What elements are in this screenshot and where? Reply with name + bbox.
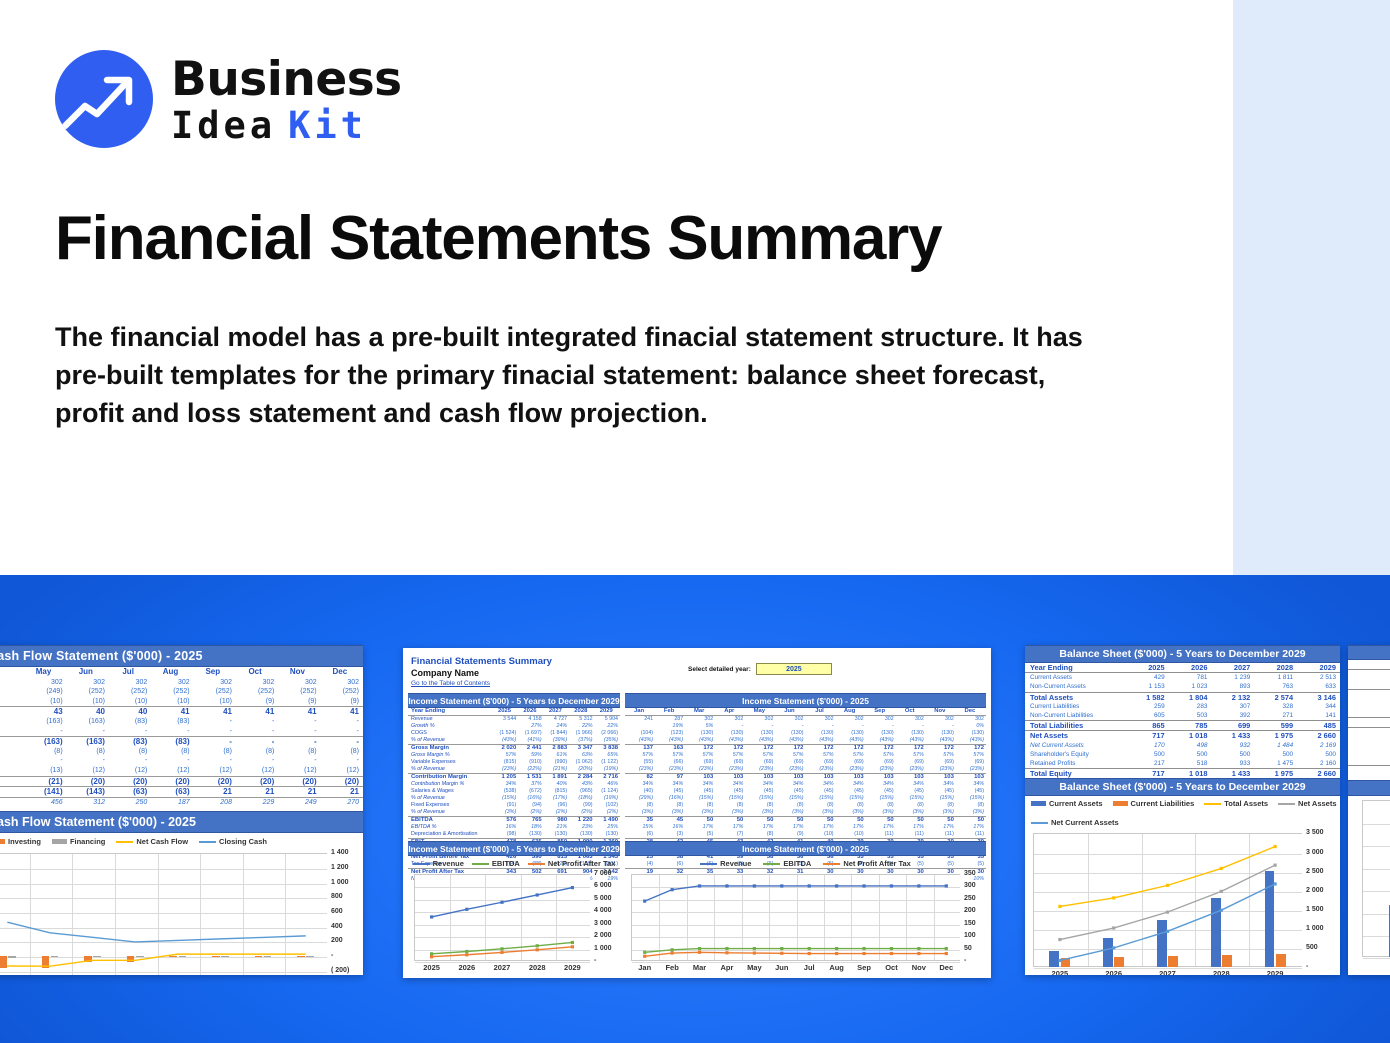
data-cell: (91) bbox=[493, 802, 518, 809]
chart-series-lines bbox=[625, 870, 986, 975]
data-cell: (130) bbox=[896, 730, 926, 737]
row-label bbox=[0, 756, 24, 766]
data-cell: (45) bbox=[715, 788, 745, 795]
cash-flow-sheet-screenshot[interactable]: Cash Flow Statement ($'000) - 2025 MayJu… bbox=[0, 645, 363, 975]
table-row: -------- bbox=[0, 727, 363, 737]
legend-item: Financing bbox=[52, 837, 105, 846]
data-cell: 2027 bbox=[1211, 663, 1254, 673]
legend-label: Current Assets bbox=[1049, 799, 1103, 808]
data-cell: 103 bbox=[836, 774, 866, 782]
row-label: Net Current Assets bbox=[1025, 741, 1126, 750]
legend-item: Current Assets bbox=[1031, 799, 1103, 808]
data-cell: 2029 bbox=[1297, 663, 1340, 673]
data-cell: 50 bbox=[836, 817, 866, 825]
data-cell: (2%) bbox=[518, 809, 543, 817]
row-label: Fixed Expenses bbox=[408, 802, 493, 809]
data-cell: 57% bbox=[836, 752, 866, 759]
data-cell: (8) bbox=[715, 802, 745, 809]
data-cell: (22%) bbox=[518, 766, 543, 774]
data-cell: (83) bbox=[109, 737, 151, 747]
data-cell: (16%) bbox=[518, 795, 543, 802]
data-cell: 2025 bbox=[1126, 663, 1169, 673]
chart-series-lines bbox=[0, 849, 363, 975]
data-cell: 170 bbox=[1126, 741, 1169, 750]
data-cell: 17% bbox=[926, 824, 956, 831]
data-cell: (15%) bbox=[896, 795, 926, 802]
data-cell: 97 bbox=[655, 774, 685, 782]
chart-series-lines bbox=[1025, 829, 1340, 975]
data-cell: 576 bbox=[493, 817, 518, 825]
data-cell: 50 bbox=[685, 817, 715, 825]
data-cell: (12) bbox=[109, 766, 151, 776]
row-label: Gross Margin bbox=[408, 745, 493, 753]
data-cell: 17% bbox=[745, 824, 775, 831]
data-cell: (43%) bbox=[775, 737, 805, 745]
legend-swatch bbox=[700, 863, 717, 865]
row-label bbox=[1348, 689, 1390, 699]
table-row: 4340404141414141 bbox=[0, 707, 363, 717]
data-cell: 24% bbox=[544, 723, 569, 730]
table-row: Growth %27%24%22%22% bbox=[408, 723, 620, 730]
data-cell: 34% bbox=[625, 781, 655, 788]
data-cell: - bbox=[194, 717, 236, 727]
row-label bbox=[1348, 670, 1390, 680]
data-cell: 103 bbox=[956, 774, 986, 782]
month-header: Sep bbox=[194, 667, 236, 678]
data-cell: (8) bbox=[775, 802, 805, 809]
data-cell: 1 023 bbox=[1169, 682, 1212, 692]
data-cell: (252) bbox=[278, 687, 320, 697]
data-cell: - bbox=[236, 727, 278, 737]
data-cell: 50 bbox=[926, 817, 956, 825]
data-cell: 17% bbox=[715, 824, 745, 831]
data-cell: (990) bbox=[544, 759, 569, 766]
data-cell: (1 124) bbox=[595, 788, 620, 795]
table-row: (13)(12)(12)(12)(12)(12)(12)(12) bbox=[0, 766, 363, 776]
balance-sheet-table: Year Ending20252026202720282029Current A… bbox=[1025, 663, 1340, 778]
data-cell: 34% bbox=[655, 781, 685, 788]
data-cell: (17%) bbox=[544, 795, 569, 802]
page-title: Financial Statements Summary bbox=[55, 203, 941, 274]
data-cell: (11) bbox=[956, 831, 986, 839]
data-cell: (3%) bbox=[956, 809, 986, 817]
row-label bbox=[0, 697, 24, 707]
data-cell: 5% bbox=[685, 723, 715, 730]
data-cell: (15%) bbox=[775, 795, 805, 802]
row-label bbox=[1348, 679, 1390, 689]
row-label bbox=[0, 766, 24, 776]
data-cell: (1 697) bbox=[518, 730, 543, 737]
data-cell: (23%) bbox=[866, 766, 896, 774]
data-cell: 500 bbox=[1211, 750, 1254, 759]
data-cell: 3 347 bbox=[569, 745, 594, 753]
data-cell: 302 bbox=[194, 678, 236, 688]
data-cell: (20) bbox=[278, 776, 320, 787]
data-cell: 302 bbox=[956, 716, 986, 724]
data-cell: 65% bbox=[595, 752, 620, 759]
data-cell: 35 bbox=[625, 817, 655, 825]
table-row: (8)(8)(8)(8)(8)(8)(8)(8) bbox=[0, 747, 363, 757]
data-cell: (102) bbox=[595, 802, 620, 809]
table-row: Total Assets1 5821 8042 1322 5743 146 bbox=[1025, 692, 1340, 702]
row-label bbox=[1348, 718, 1390, 728]
table-row: (23%)(23%)(23%)(23%)(23%)(23%)(23%)(23%)… bbox=[625, 766, 986, 774]
balance-sheet-chart-legend: Current AssetsCurrent LiabilitiesTotal A… bbox=[1025, 796, 1340, 829]
growth-arrow-circle-icon bbox=[55, 50, 153, 148]
data-cell: (252) bbox=[67, 687, 109, 697]
data-cell: 57% bbox=[956, 752, 986, 759]
data-cell: (45) bbox=[685, 788, 715, 795]
data-cell: (8) bbox=[321, 747, 363, 757]
data-cell: 103 bbox=[926, 774, 956, 782]
data-cell: 27% bbox=[518, 723, 543, 730]
data-cell: 1 433 bbox=[1211, 769, 1254, 779]
balance-monthly-chart-ribbon bbox=[1348, 780, 1390, 796]
data-cell: (8) bbox=[805, 802, 835, 809]
data-cell: 2 169 bbox=[1297, 741, 1340, 750]
legend-label: Closing Cash bbox=[219, 837, 267, 846]
table-row: 456312250187208229249270 bbox=[0, 797, 363, 807]
table-row: 241287302302302302302302302302302302 bbox=[625, 716, 986, 724]
data-cell: - bbox=[194, 737, 236, 747]
legend-swatch bbox=[823, 863, 840, 865]
data-cell: 344 bbox=[1297, 702, 1340, 711]
data-cell: (130) bbox=[805, 730, 835, 737]
table-row: 1 174 bbox=[1348, 670, 1390, 680]
legend-item: Net Cash Flow bbox=[116, 837, 188, 846]
row-label: Revenue bbox=[408, 716, 493, 724]
data-cell: 2 660 bbox=[1297, 731, 1340, 741]
data-cell: 172 bbox=[896, 745, 926, 753]
data-cell: 763 bbox=[1254, 682, 1297, 692]
data-cell: 312 bbox=[67, 797, 109, 807]
data-cell: (8) bbox=[896, 802, 926, 809]
data-cell: - bbox=[24, 756, 66, 766]
balance-sheet-monthly-screenshot[interactable]: Jan1 1741241 297936927865121 08150012512… bbox=[1348, 645, 1390, 975]
data-cell: (99) bbox=[569, 802, 594, 809]
legend-item: Net Assets bbox=[1278, 799, 1337, 808]
year-header: 2028 bbox=[569, 708, 594, 716]
data-cell: 37% bbox=[518, 781, 543, 788]
data-cell: 40% bbox=[544, 781, 569, 788]
table-row: (3%)(3%)(3%)(3%)(3%)(3%)(3%)(3%)(3%)(3%)… bbox=[625, 809, 986, 817]
row-label: COGS bbox=[408, 730, 493, 737]
data-cell: 15% bbox=[625, 824, 655, 831]
row-label bbox=[0, 727, 24, 737]
income-statement-sheet-screenshot[interactable]: Financial Statements Summary Company Nam… bbox=[403, 648, 991, 978]
data-cell: 187 bbox=[151, 797, 193, 807]
data-cell: 1 582 bbox=[1126, 692, 1169, 702]
data-cell: (23%) bbox=[956, 766, 986, 774]
data-cell: 34% bbox=[715, 781, 745, 788]
legend-swatch bbox=[0, 839, 5, 844]
chart-series-lines bbox=[408, 870, 620, 975]
data-cell: (8) bbox=[956, 802, 986, 809]
legend-label: Net Profit After Tax bbox=[548, 859, 616, 868]
data-cell: (252) bbox=[321, 687, 363, 697]
income-annual-table-title: Income Statement ($'000) - 5 Years to De… bbox=[408, 693, 620, 708]
data-cell: (43%) bbox=[685, 737, 715, 745]
data-cell: 41 bbox=[194, 707, 236, 717]
data-cell: 500 bbox=[1126, 750, 1169, 759]
data-cell: (19%) bbox=[595, 766, 620, 774]
data-cell: (8) bbox=[109, 747, 151, 757]
row-label: Gross Margin % bbox=[408, 752, 493, 759]
data-cell: (15%) bbox=[836, 795, 866, 802]
select-year-label: Select detailed year: bbox=[688, 666, 751, 673]
data-cell: 500 bbox=[1169, 750, 1212, 759]
data-cell: (15%) bbox=[805, 795, 835, 802]
data-cell: (43%) bbox=[836, 737, 866, 745]
brand-logo: Business Idea Kit bbox=[55, 50, 402, 148]
table-row: Net Current Assets1704989321 4842 169 bbox=[1025, 741, 1340, 750]
data-cell: 172 bbox=[836, 745, 866, 753]
data-cell: (8) bbox=[194, 747, 236, 757]
legend-label: Financing bbox=[70, 837, 105, 846]
income-annual-chart: 7 0006 0005 0004 0003 0002 0001 000-2025… bbox=[408, 870, 620, 975]
data-cell: (10) bbox=[805, 831, 835, 839]
data-cell: 208 bbox=[194, 797, 236, 807]
data-cell: 2026 bbox=[1169, 663, 1212, 673]
data-cell: (43%) bbox=[745, 737, 775, 745]
data-cell: - bbox=[109, 727, 151, 737]
row-label: Growth % bbox=[408, 723, 493, 730]
data-cell: 43 bbox=[24, 707, 66, 717]
table-row: % of Revenue(43%)(41%)(39%)(37%)(35%) bbox=[408, 737, 620, 745]
row-label: % of Revenue bbox=[408, 795, 493, 802]
year-header: 2029 bbox=[595, 708, 620, 716]
data-cell: (965) bbox=[569, 788, 594, 795]
data-cell: 2 513 bbox=[1297, 673, 1340, 683]
data-cell: 302 bbox=[896, 716, 926, 724]
table-row: Salaries & Wages(538)(672)(815)(965)(1 1… bbox=[408, 788, 620, 795]
data-cell: 1 975 bbox=[1254, 731, 1297, 741]
data-cell: - bbox=[67, 727, 109, 737]
data-cell: 500 bbox=[1254, 750, 1297, 759]
select-year-input[interactable]: 2025 bbox=[756, 663, 832, 675]
data-cell: (55) bbox=[625, 759, 655, 766]
table-row: 512 bbox=[1348, 766, 1390, 776]
data-cell: 1 475 bbox=[1254, 759, 1297, 769]
month-header: Nov bbox=[926, 708, 956, 716]
data-cell: (1 966) bbox=[569, 730, 594, 737]
income-monthly-chart-title: Income Statement ($'000) - 2025 bbox=[625, 841, 986, 856]
table-row: Contribution Margin %34%37%40%43%46% bbox=[408, 781, 620, 788]
row-label: % of Revenue bbox=[408, 809, 493, 817]
data-cell: 34% bbox=[493, 781, 518, 788]
data-cell: (8) bbox=[866, 802, 896, 809]
table-row: Depreciation & Amortisation(98)(130)(130… bbox=[408, 831, 620, 839]
data-cell: 57% bbox=[775, 752, 805, 759]
table-row: -------- bbox=[0, 756, 363, 766]
data-cell: 21 bbox=[321, 787, 363, 798]
row-label bbox=[1348, 756, 1390, 766]
data-cell: 57% bbox=[685, 752, 715, 759]
data-cell: (43%) bbox=[655, 737, 685, 745]
data-cell: (69) bbox=[956, 759, 986, 766]
brand-word-idea: Idea bbox=[171, 107, 276, 144]
page-description: The financial model has a pre-built inte… bbox=[55, 318, 1110, 432]
data-cell: 103 bbox=[685, 774, 715, 782]
data-cell: 302 bbox=[926, 716, 956, 724]
balance-sheet-chart-title: Balance Sheet ($'000) - 5 Years to Decem… bbox=[1025, 778, 1340, 796]
income-monthly-table-title: Income Statement ($'000) - 2025 bbox=[625, 693, 986, 708]
row-label bbox=[0, 667, 24, 678]
legend-item: Investing bbox=[0, 837, 41, 846]
table-row: (29%)(16%)(15%)(15%)(15%)(15%)(15%)(15%)… bbox=[625, 795, 986, 802]
row-label bbox=[1348, 660, 1390, 670]
data-cell: (43%) bbox=[625, 737, 655, 745]
data-cell: 781 bbox=[1169, 673, 1212, 683]
brand-word-business: Business bbox=[171, 56, 402, 103]
data-cell: (96) bbox=[544, 802, 569, 809]
data-cell: 34% bbox=[685, 781, 715, 788]
income-monthly-chart: 35030025020015010050-JanFebMarAprMayJunJ… bbox=[625, 870, 986, 975]
data-cell: 518 bbox=[1169, 759, 1212, 769]
data-cell: 302 bbox=[278, 678, 320, 688]
table-row: (249)(252)(252)(252)(252)(252)(252)(252) bbox=[0, 687, 363, 697]
data-cell: 172 bbox=[956, 745, 986, 753]
row-label bbox=[0, 687, 24, 697]
row-label bbox=[1348, 728, 1390, 738]
legend-item: Net Current Assets bbox=[1031, 818, 1119, 827]
data-cell: 302 bbox=[836, 716, 866, 724]
table-row: Gross Margin2 0202 4412 8833 3473 838 bbox=[408, 745, 620, 753]
row-label bbox=[0, 787, 24, 798]
data-cell: 893 bbox=[1211, 682, 1254, 692]
data-cell: (15%) bbox=[745, 795, 775, 802]
data-cell: (7) bbox=[715, 831, 745, 839]
data-cell: 103 bbox=[745, 774, 775, 782]
data-cell: (23%) bbox=[685, 766, 715, 774]
decorative-tint-panel bbox=[1233, 0, 1390, 575]
data-cell: - bbox=[67, 756, 109, 766]
data-cell: - bbox=[896, 723, 926, 730]
data-cell: 25% bbox=[595, 824, 620, 831]
data-cell: - bbox=[321, 756, 363, 766]
brand-wordmark: Business Idea Kit bbox=[171, 54, 402, 144]
data-cell: (45) bbox=[805, 788, 835, 795]
data-cell: 2 160 bbox=[1297, 759, 1340, 769]
data-cell: 103 bbox=[896, 774, 926, 782]
data-cell: 17% bbox=[775, 824, 805, 831]
data-cell: (23%) bbox=[836, 766, 866, 774]
data-cell: - bbox=[278, 727, 320, 737]
data-cell: (43%) bbox=[805, 737, 835, 745]
table-row: 19%5%--------0% bbox=[625, 723, 986, 730]
data-cell: 2 716 bbox=[595, 774, 620, 782]
data-cell: (23%) bbox=[805, 766, 835, 774]
month-header: Dec bbox=[321, 667, 363, 678]
income-monthly-chart-legend: RevenueEBITDANet Profit After Tax bbox=[625, 856, 986, 870]
data-cell: - bbox=[805, 723, 835, 730]
data-cell: 57% bbox=[655, 752, 685, 759]
data-cell: 456 bbox=[24, 797, 66, 807]
data-cell: 63% bbox=[569, 752, 594, 759]
table-row: 692 bbox=[1348, 708, 1390, 718]
legend-item: Net Profit After Tax bbox=[528, 859, 616, 868]
month-header: Aug bbox=[836, 708, 866, 716]
data-cell: (21%) bbox=[544, 766, 569, 774]
data-cell: 302 bbox=[775, 716, 805, 724]
table-row: Variable Expenses(815)(910)(990)(1 062)(… bbox=[408, 759, 620, 766]
data-cell: 21% bbox=[544, 824, 569, 831]
data-cell: (43%) bbox=[896, 737, 926, 745]
data-cell: (130) bbox=[715, 730, 745, 737]
data-cell: 172 bbox=[775, 745, 805, 753]
data-cell: (37%) bbox=[569, 737, 594, 745]
data-cell: - bbox=[775, 723, 805, 730]
data-cell: (10) bbox=[24, 697, 66, 707]
row-label: Year Ending bbox=[408, 708, 493, 716]
data-cell: 17% bbox=[805, 824, 835, 831]
data-cell: 57% bbox=[866, 752, 896, 759]
month-header: Apr bbox=[715, 708, 745, 716]
data-cell: (16%) bbox=[655, 795, 685, 802]
table-row: Shareholder's Equity500500500500500 bbox=[1025, 750, 1340, 759]
data-cell: 40 bbox=[67, 707, 109, 717]
data-cell: (43%) bbox=[956, 737, 986, 745]
data-cell: 45 bbox=[655, 817, 685, 825]
data-cell: 392 bbox=[1211, 711, 1254, 721]
table-row: 500 bbox=[1348, 747, 1390, 756]
data-cell: 2 574 bbox=[1254, 692, 1297, 702]
data-cell: 172 bbox=[866, 745, 896, 753]
table-row: 1 297 bbox=[1348, 689, 1390, 699]
data-cell: (3%) bbox=[836, 809, 866, 817]
data-cell: (130) bbox=[518, 831, 543, 839]
legend-label: Revenue bbox=[433, 859, 464, 868]
data-cell: (143) bbox=[67, 787, 109, 798]
data-cell: (15%) bbox=[493, 795, 518, 802]
data-cell: 172 bbox=[745, 745, 775, 753]
data-cell: 699 bbox=[1211, 721, 1254, 731]
data-cell: 59% bbox=[518, 752, 543, 759]
row-label bbox=[0, 737, 24, 747]
data-cell: 717 bbox=[1126, 731, 1169, 741]
data-cell: - bbox=[109, 756, 151, 766]
table-of-contents-link[interactable]: Go to the Table of Contents bbox=[411, 680, 991, 687]
data-cell: (15%) bbox=[685, 795, 715, 802]
data-cell: 302 bbox=[866, 716, 896, 724]
data-cell: 3 544 bbox=[493, 716, 518, 724]
data-cell: (83) bbox=[151, 737, 193, 747]
data-cell: 50 bbox=[866, 817, 896, 825]
legend-label: EBITDA bbox=[783, 859, 811, 868]
data-cell: (163) bbox=[24, 737, 66, 747]
data-cell: 302 bbox=[67, 678, 109, 688]
table-row: Contribution Margin1 2051 5311 8912 2842… bbox=[408, 774, 620, 782]
data-cell: (130) bbox=[595, 831, 620, 839]
income-annual-chart-title: Income Statement ($'000) - 5 Years to De… bbox=[408, 841, 620, 856]
year-header: 2025 bbox=[493, 708, 518, 716]
data-cell: (41%) bbox=[518, 737, 543, 745]
data-cell: (45) bbox=[896, 788, 926, 795]
data-cell: 4 158 bbox=[518, 716, 543, 724]
table-row: 34%34%34%34%34%34%34%34%34%34%34%34% bbox=[625, 781, 986, 788]
month-header: Jun bbox=[67, 667, 109, 678]
data-cell: (3%) bbox=[805, 809, 835, 817]
data-cell: 287 bbox=[655, 716, 685, 724]
data-cell: 1 811 bbox=[1254, 673, 1297, 683]
data-cell: 2 883 bbox=[544, 745, 569, 753]
data-cell: (130) bbox=[569, 831, 594, 839]
data-cell: 46% bbox=[595, 781, 620, 788]
balance-sheet-screenshot[interactable]: Balance Sheet ($'000) - 5 Years to Decem… bbox=[1025, 645, 1340, 975]
table-row: 8297103103103103103103103103103103 bbox=[625, 774, 986, 782]
table-row: Total Equity7171 0181 4331 9752 660 bbox=[1025, 769, 1340, 779]
data-cell: (43%) bbox=[866, 737, 896, 745]
